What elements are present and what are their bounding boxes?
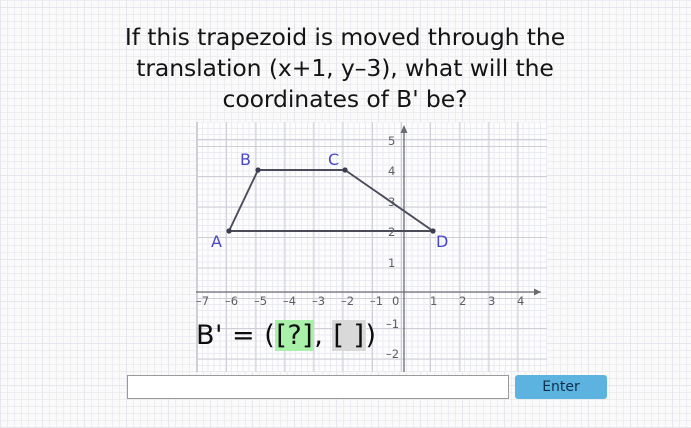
x-tick--6: –6 [225, 294, 238, 308]
question-line-3: coordinates of B' be? [80, 84, 610, 115]
vertex-point-c [342, 167, 347, 172]
x-tick--7: –7 [196, 294, 209, 308]
vertex-point-b [255, 167, 260, 172]
x-tick--5: –5 [254, 294, 267, 308]
x-tick--3: –3 [312, 294, 325, 308]
answer-bar: Enter [127, 375, 607, 399]
vertex-label-a: A [211, 232, 222, 251]
x-tick--1: –1 [370, 294, 383, 308]
y-axis-arrow [401, 125, 408, 133]
x-tick--2: –2 [341, 294, 354, 308]
y-tick--2: –2 [386, 347, 399, 361]
enter-button[interactable]: Enter [515, 375, 607, 399]
x-tick-1: 1 [430, 294, 437, 308]
x-tick-3: 3 [488, 294, 495, 308]
answer-prefix: B' = ( [196, 320, 275, 351]
vertex-point-a [226, 228, 231, 233]
x-tick-0: 0 [392, 294, 399, 308]
y-tick-1: 1 [388, 256, 395, 270]
vertex-label-b: B [240, 150, 251, 169]
answer-input[interactable] [127, 375, 509, 399]
x-axis-arrow [534, 289, 541, 296]
y-tick-3: 3 [388, 195, 395, 209]
y-tick--1: –1 [386, 317, 399, 331]
vertex-point-d [430, 228, 435, 233]
question-line-2: translation (x+1, y–3), what will the [80, 53, 610, 84]
x-tick--4: –4 [283, 294, 296, 308]
answer-separator: , [314, 320, 332, 351]
y-tick-2: 2 [388, 225, 395, 239]
question-prompt: If this trapezoid is moved through the t… [80, 22, 610, 115]
answer-expression: B' = ([?], [ ]) [196, 320, 377, 351]
y-tick-4: 4 [388, 164, 395, 178]
vertex-label-d: D [436, 232, 448, 251]
x-tick-2: 2 [459, 294, 466, 308]
x-tick-4: 4 [517, 294, 524, 308]
y-tick-5: 5 [388, 134, 395, 148]
vertex-label-c: C [328, 150, 339, 169]
answer-slot-first[interactable]: [?] [275, 320, 314, 351]
question-line-1: If this trapezoid is moved through the [80, 22, 610, 53]
answer-suffix: ) [366, 320, 377, 351]
answer-slot-second[interactable]: [ ] [332, 320, 365, 351]
trapezoid-shape [229, 170, 433, 231]
